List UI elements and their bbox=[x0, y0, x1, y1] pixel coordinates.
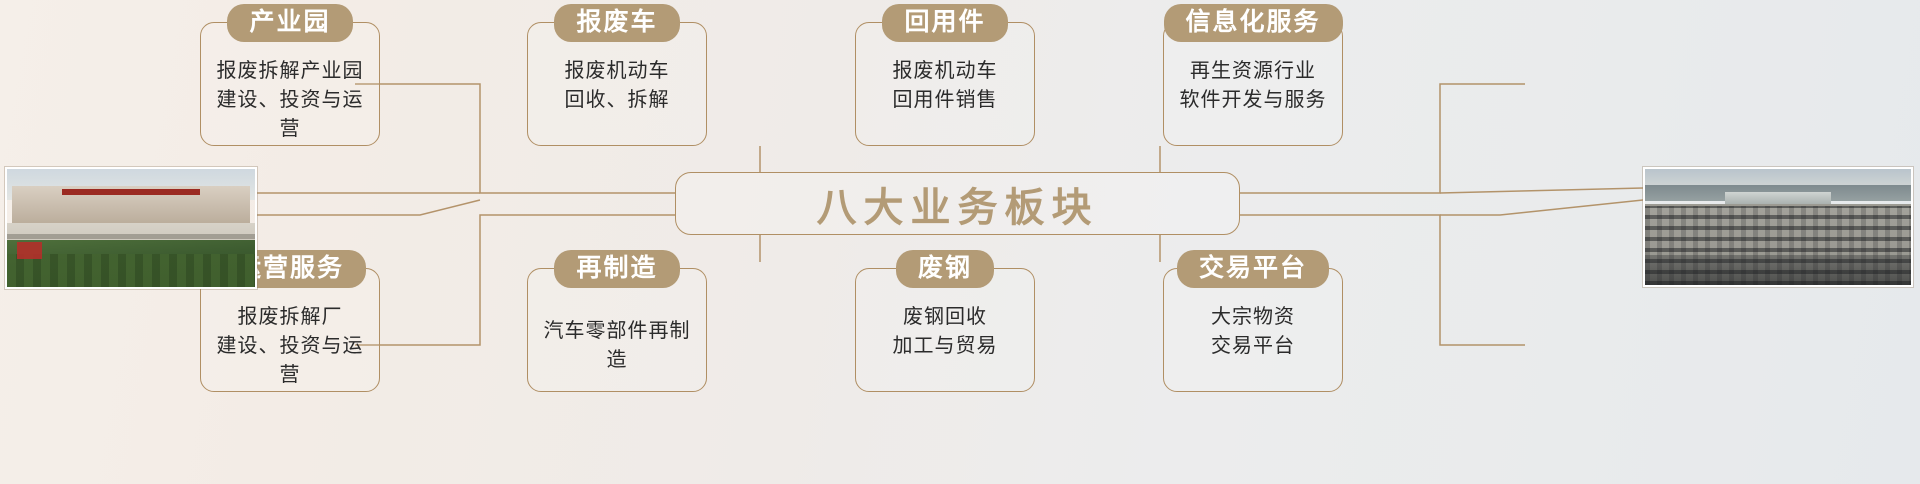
card-line: 报废拆解产业园 bbox=[211, 56, 369, 85]
card-badge-industrial-park: 产业园 bbox=[227, 4, 352, 42]
business-segments-diagram: 八大业务板块 产业园 报废拆解产业园 建设、投资与运营 报废车 报废机动车 回收… bbox=[0, 0, 1920, 484]
card-line: 加工与贸易 bbox=[893, 331, 998, 360]
card-line: 大宗物资 bbox=[1211, 302, 1295, 331]
card-body-scrap-vehicle: 报废机动车 回收、拆解 bbox=[555, 56, 680, 114]
center-node-title: 八大业务板块 bbox=[817, 175, 1099, 233]
photo-flag bbox=[17, 242, 42, 259]
center-node[interactable]: 八大业务板块 bbox=[675, 172, 1240, 235]
photo-foreground-shade bbox=[1645, 255, 1911, 285]
photo-building-windows bbox=[12, 193, 250, 224]
photo-right-artwork bbox=[1645, 169, 1911, 285]
card-line: 报废机动车 bbox=[565, 56, 670, 85]
card-line: 建设、投资与运营 bbox=[211, 85, 369, 143]
card-badge-remanufacturing: 再制造 bbox=[554, 250, 679, 288]
card-line: 建设、投资与运营 bbox=[211, 331, 369, 389]
card-line: 废钢回收 bbox=[893, 302, 998, 331]
photo-red-banner bbox=[62, 189, 201, 195]
card-reusable-parts[interactable]: 回用件 报废机动车 回用件销售 bbox=[855, 22, 1035, 146]
photo-left-artwork bbox=[7, 169, 255, 287]
photo-dismantling-yard-aerial: 报废汽车拆解基地航拍照片 bbox=[1643, 167, 1913, 287]
card-scrap-vehicle[interactable]: 报废车 报废机动车 回收、拆解 bbox=[527, 22, 707, 146]
card-badge-information-service: 信息化服务 bbox=[1164, 4, 1343, 42]
card-body-trading-platform: 大宗物资 交易平台 bbox=[1201, 302, 1305, 360]
card-body-operation-service: 报废拆解厂 建设、投资与运营 bbox=[201, 302, 379, 389]
card-badge-reusable-parts: 回用件 bbox=[882, 4, 1007, 42]
card-information-service[interactable]: 信息化服务 再生资源行业 软件开发与服务 bbox=[1163, 22, 1343, 146]
card-line: 回用件销售 bbox=[893, 85, 998, 114]
card-body-remanufacturing: 汽车零部件再制造 bbox=[528, 316, 706, 374]
card-line: 报废拆解厂 bbox=[211, 302, 369, 331]
photo-industrial-park-building: 产业园区办公大楼实景照片 bbox=[5, 167, 257, 289]
card-body-industrial-park: 报废拆解产业园 建设、投资与运营 bbox=[201, 56, 379, 143]
card-line: 回收、拆解 bbox=[565, 85, 670, 114]
card-remanufacturing[interactable]: 再制造 汽车零部件再制造 bbox=[527, 268, 707, 392]
card-line: 汽车零部件再制造 bbox=[538, 316, 696, 374]
card-body-scrap-steel: 废钢回收 加工与贸易 bbox=[883, 302, 1008, 360]
card-badge-scrap-steel: 废钢 bbox=[896, 250, 994, 288]
card-line: 报废机动车 bbox=[893, 56, 998, 85]
card-body-information-service: 再生资源行业 软件开发与服务 bbox=[1170, 56, 1337, 114]
card-industrial-park[interactable]: 产业园 报废拆解产业园 建设、投资与运营 bbox=[200, 22, 380, 146]
card-trading-platform[interactable]: 交易平台 大宗物资 交易平台 bbox=[1163, 268, 1343, 392]
photo-road bbox=[7, 234, 255, 239]
card-line: 再生资源行业 bbox=[1180, 56, 1327, 85]
card-body-reusable-parts: 报废机动车 回用件销售 bbox=[883, 56, 1008, 114]
card-badge-trading-platform: 交易平台 bbox=[1177, 250, 1329, 288]
card-line: 交易平台 bbox=[1211, 331, 1295, 360]
photo-tree-rows bbox=[7, 254, 255, 287]
card-scrap-steel[interactable]: 废钢 废钢回收 加工与贸易 bbox=[855, 268, 1035, 392]
card-badge-scrap-vehicle: 报废车 bbox=[554, 4, 679, 42]
card-line: 软件开发与服务 bbox=[1180, 85, 1327, 114]
